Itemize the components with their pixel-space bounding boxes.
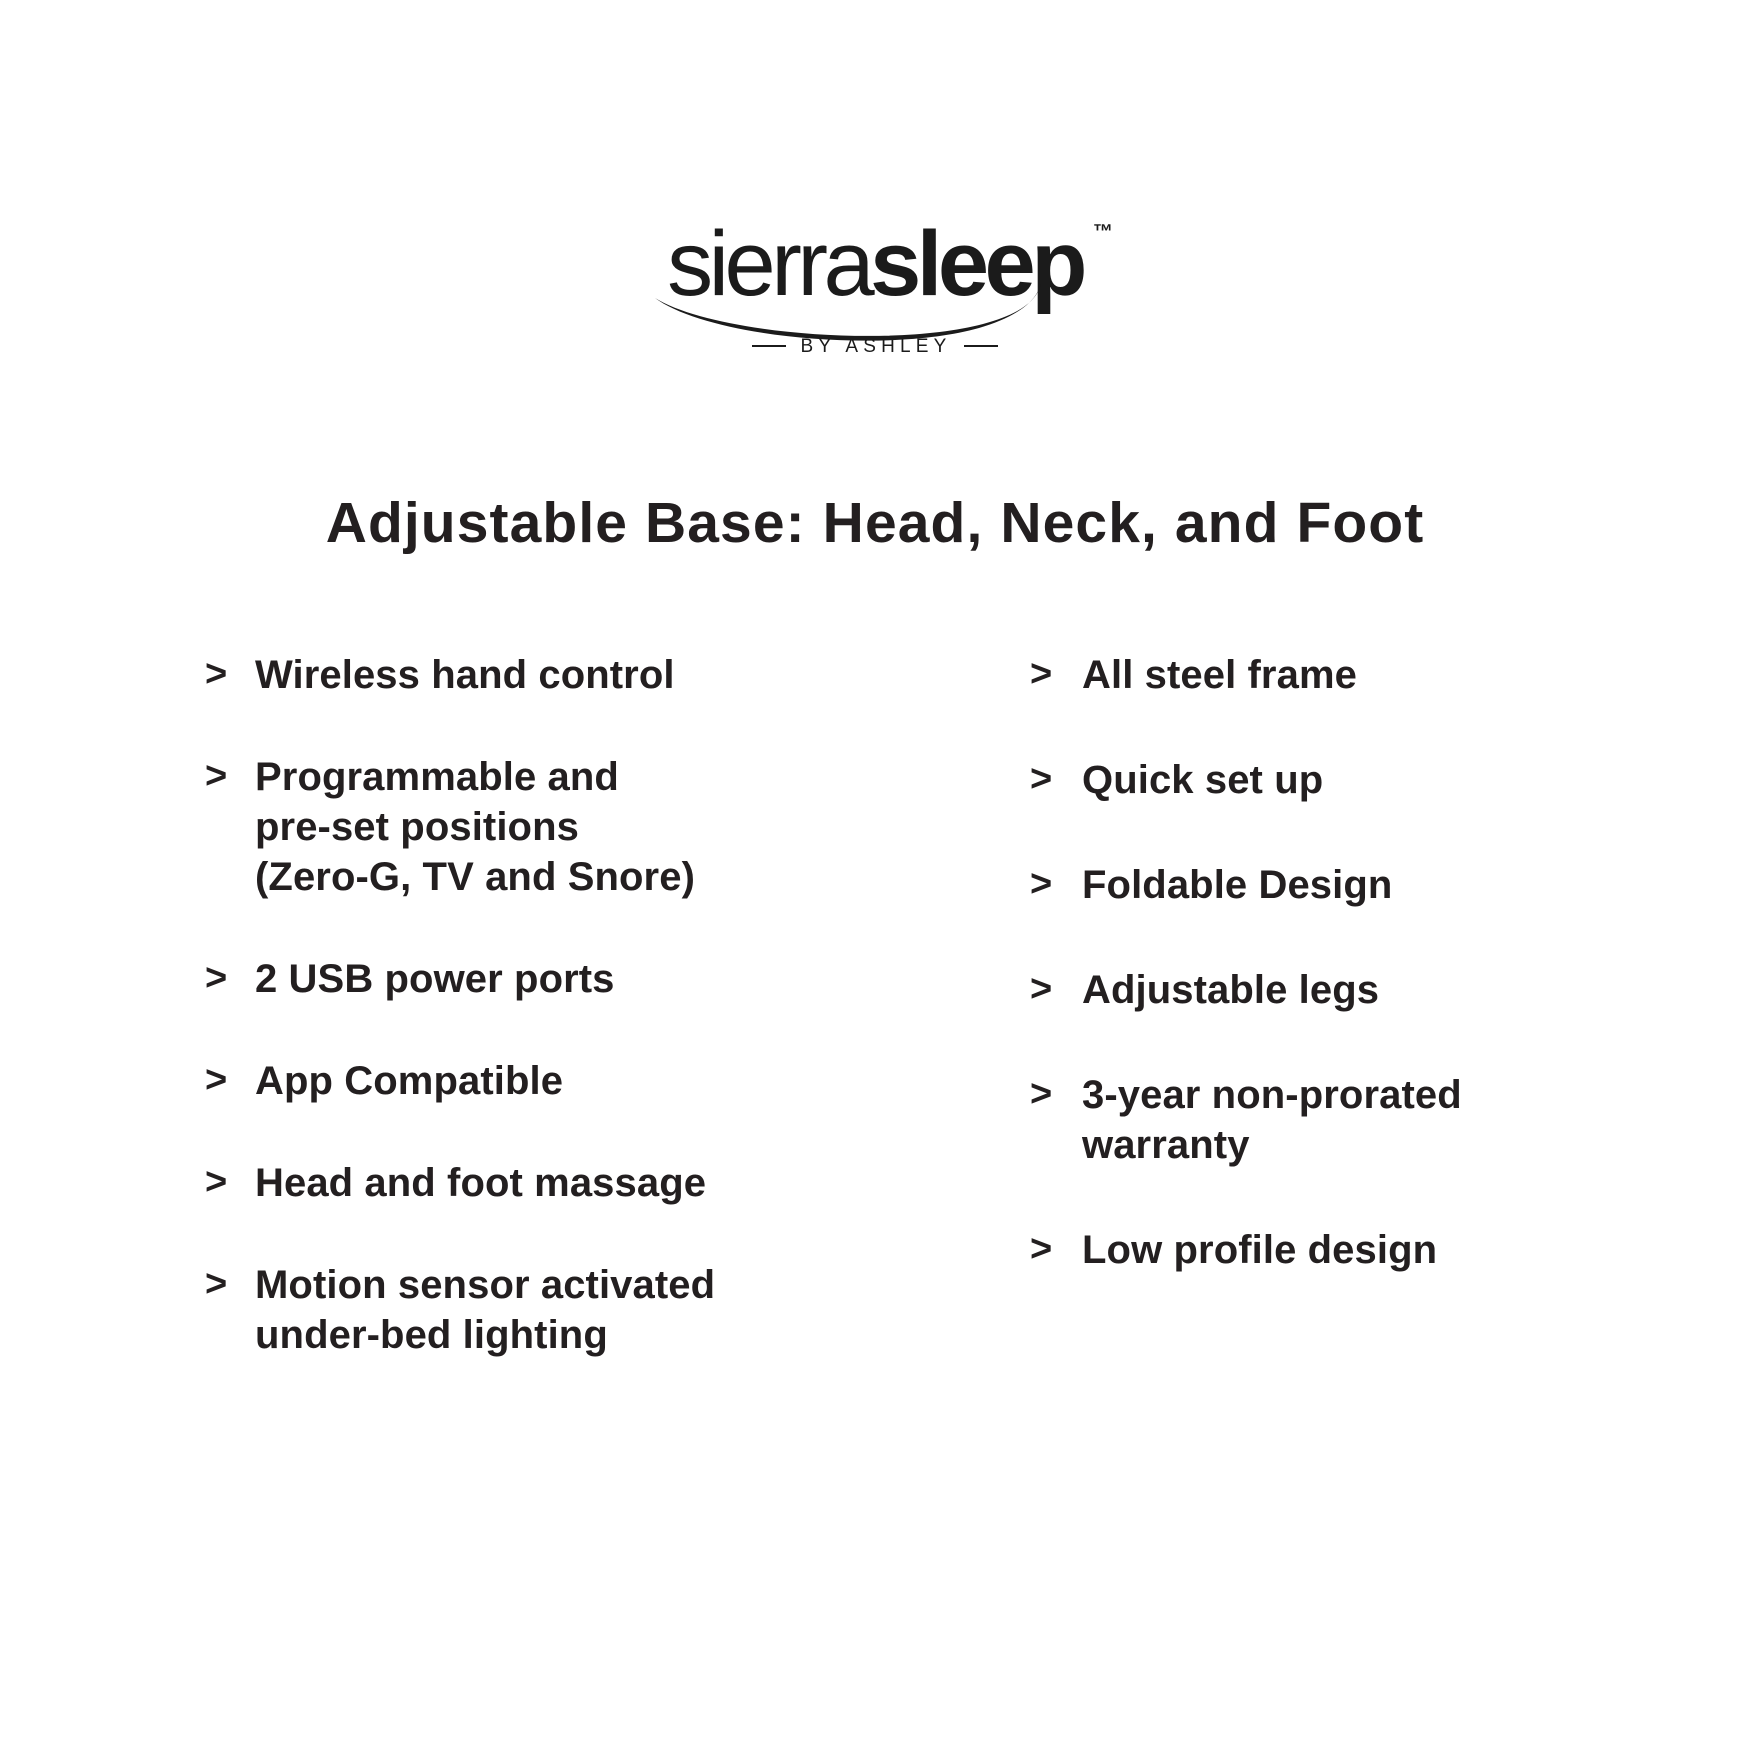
feature-item: >Low profile design [1030, 1225, 1650, 1275]
logo-wordmark-wrap: sierrasleep™ [667, 218, 1083, 310]
chevron-right-bullet-icon: > [1030, 1070, 1082, 1118]
feature-item-label: Programmable andpre-set positions(Zero-G… [255, 752, 855, 902]
feature-item-line: Programmable and [255, 752, 855, 802]
logo-sleep-text: sleep [870, 213, 1083, 315]
chevron-right-bullet-icon: > [205, 1158, 255, 1206]
product-feature-card: sierrasleep™ BY ASHLEY Adjustable Base: … [0, 0, 1750, 1750]
feature-item-label: Low profile design [1082, 1225, 1650, 1275]
chevron-right-bullet-icon: > [1030, 1225, 1082, 1273]
feature-item-label: All steel frame [1082, 650, 1650, 700]
feature-item-line: pre-set positions [255, 802, 855, 852]
feature-item-label: Wireless hand control [255, 650, 855, 700]
chevron-right-bullet-icon: > [205, 1260, 255, 1308]
chevron-right-bullet-icon: > [205, 650, 255, 698]
chevron-right-bullet-icon: > [1030, 650, 1082, 698]
brand-logo: sierrasleep™ BY ASHLEY [0, 218, 1750, 358]
feature-item: >2 USB power ports [205, 954, 855, 1004]
chevron-right-bullet-icon: > [205, 752, 255, 800]
chevron-right-bullet-icon: > [205, 954, 255, 1002]
feature-item-line: 3-year non-prorated [1082, 1070, 1650, 1120]
feature-item: >3-year non-proratedwarranty [1030, 1070, 1650, 1170]
logo-wordmark: sierrasleep™ [667, 218, 1083, 310]
feature-item-label: Adjustable legs [1082, 965, 1650, 1015]
feature-column-right: >All steel frame>Quick set up>Foldable D… [1030, 650, 1650, 1330]
feature-item: >App Compatible [205, 1056, 855, 1106]
feature-item-label: Foldable Design [1082, 860, 1650, 910]
trademark-icon: ™ [1093, 222, 1113, 242]
feature-item: >All steel frame [1030, 650, 1650, 700]
feature-item-line: (Zero-G, TV and Snore) [255, 852, 855, 902]
logo-byline-text: BY ASHLEY [800, 336, 951, 357]
feature-item-label: Quick set up [1082, 755, 1650, 805]
feature-item: >Foldable Design [1030, 860, 1650, 910]
chevron-right-bullet-icon: > [205, 1056, 255, 1104]
feature-item-label: Motion sensor activatedunder-bed lightin… [255, 1260, 855, 1360]
page-title: Adjustable Base: Head, Neck, and Foot [0, 490, 1750, 556]
feature-item: >Programmable andpre-set positions(Zero-… [205, 752, 855, 902]
feature-item-line: Quick set up [1082, 755, 1650, 805]
feature-item: >Head and foot massage [205, 1158, 855, 1208]
feature-item-label: App Compatible [255, 1056, 855, 1106]
feature-list: >Wireless hand control>Programmable andp… [0, 650, 1750, 1450]
chevron-right-bullet-icon: > [1030, 755, 1082, 803]
byline-dash-right-icon [964, 345, 998, 347]
feature-item-line: Wireless hand control [255, 650, 855, 700]
chevron-right-bullet-icon: > [1030, 965, 1082, 1013]
chevron-right-bullet-icon: > [1030, 860, 1082, 908]
byline-dash-left-icon [752, 345, 786, 347]
logo-byline: BY ASHLEY [0, 336, 1750, 358]
feature-item-line: Foldable Design [1082, 860, 1650, 910]
feature-item-line: App Compatible [255, 1056, 855, 1106]
feature-item-line: Adjustable legs [1082, 965, 1650, 1015]
feature-item-label: Head and foot massage [255, 1158, 855, 1208]
feature-item-line: Motion sensor activated [255, 1260, 855, 1310]
feature-item-line: 2 USB power ports [255, 954, 855, 1004]
feature-item-label: 2 USB power ports [255, 954, 855, 1004]
feature-item: >Adjustable legs [1030, 965, 1650, 1015]
feature-item-label: 3-year non-proratedwarranty [1082, 1070, 1650, 1170]
feature-column-left: >Wireless hand control>Programmable andp… [205, 650, 855, 1412]
feature-item-line: Head and foot massage [255, 1158, 855, 1208]
feature-item-line: All steel frame [1082, 650, 1650, 700]
feature-item-line: under-bed lighting [255, 1310, 855, 1360]
feature-item-line: Low profile design [1082, 1225, 1650, 1275]
feature-item: >Quick set up [1030, 755, 1650, 805]
feature-item: >Motion sensor activatedunder-bed lighti… [205, 1260, 855, 1360]
feature-item-line: warranty [1082, 1120, 1650, 1170]
feature-item: >Wireless hand control [205, 650, 855, 700]
logo-sierra-text: sierra [667, 213, 870, 315]
